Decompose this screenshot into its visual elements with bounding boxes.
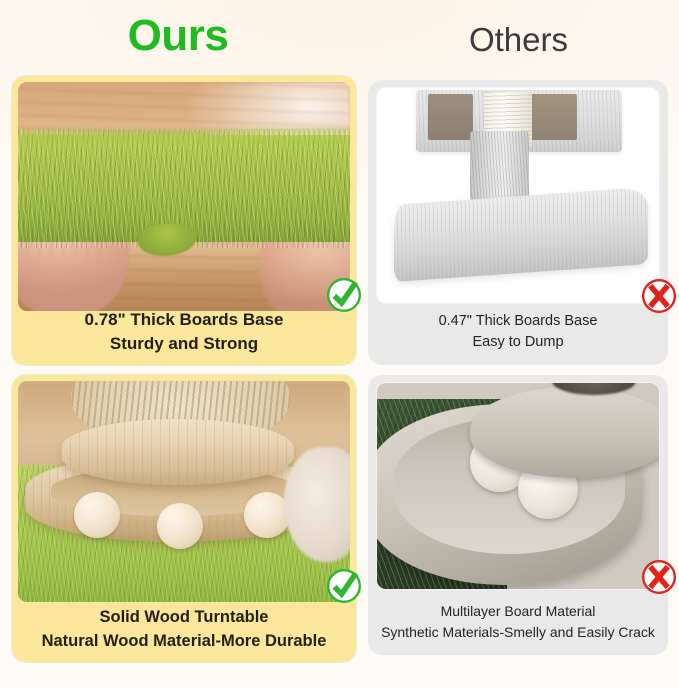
caption-line-1: 0.47" Thick Boards Base <box>439 313 598 329</box>
grey-particleboard-turntable-photo <box>377 383 659 589</box>
caption-line-2: Easy to Dump <box>378 332 658 353</box>
caption-line-1: Solid Wood Turntable <box>100 608 269 626</box>
wooden-ball <box>244 492 290 538</box>
thin-base-board <box>394 187 648 282</box>
comparison-headings-row: Ours Others <box>0 0 679 76</box>
turntable-upper-disc <box>61 419 293 485</box>
caption-line-2: Synthetic Materials-Smelly and Easily Cr… <box>378 622 658 643</box>
x-badge <box>640 277 678 315</box>
ours-card-material: Solid Wood Turntable Natural Wood Materi… <box>12 375 356 662</box>
others-thickness-photo <box>377 88 659 303</box>
check-badge <box>325 276 363 314</box>
check-badge <box>325 567 363 605</box>
particleboard-upper-disc <box>470 387 659 478</box>
heading-ours: Ours <box>0 9 356 63</box>
others-card-material: Multilayer Board Material Synthetic Mate… <box>368 375 668 655</box>
caption-line-1: 0.78" Thick Boards Base <box>85 310 284 329</box>
caption-line-2: Sturdy and Strong <box>22 332 346 356</box>
green-plush-board-photo <box>18 82 350 311</box>
others-material-caption: Multilayer Board Material Synthetic Mate… <box>368 601 668 643</box>
wooden-ball <box>74 492 120 538</box>
shelf-carpet-left <box>428 94 473 139</box>
ours-thickness-caption: 0.78" Thick Boards Base Sturdy and Stron… <box>12 308 356 356</box>
caption-line-1: Multilayer Board Material <box>441 603 596 619</box>
x-badge <box>640 558 678 596</box>
others-card-thickness: 0.47" Thick Boards Base Easy to Dump <box>368 80 668 365</box>
wooden-ball <box>157 503 203 549</box>
ours-material-caption: Solid Wood Turntable Natural Wood Materi… <box>12 605 356 653</box>
others-thickness-caption: 0.47" Thick Boards Base Easy to Dump <box>368 311 668 353</box>
wooden-turntable-with-balls-photo <box>18 381 350 602</box>
ours-card-thickness: 0.78" Thick Boards Base Sturdy and Stron… <box>12 76 356 365</box>
others-material-photo <box>377 383 659 589</box>
ours-material-photo <box>18 381 350 602</box>
caption-line-2: Natural Wood Material-More Durable <box>22 629 346 653</box>
grey-cat-tree-base-photo <box>377 88 659 303</box>
heading-others: Others <box>358 20 679 60</box>
ours-thickness-photo <box>18 82 350 311</box>
